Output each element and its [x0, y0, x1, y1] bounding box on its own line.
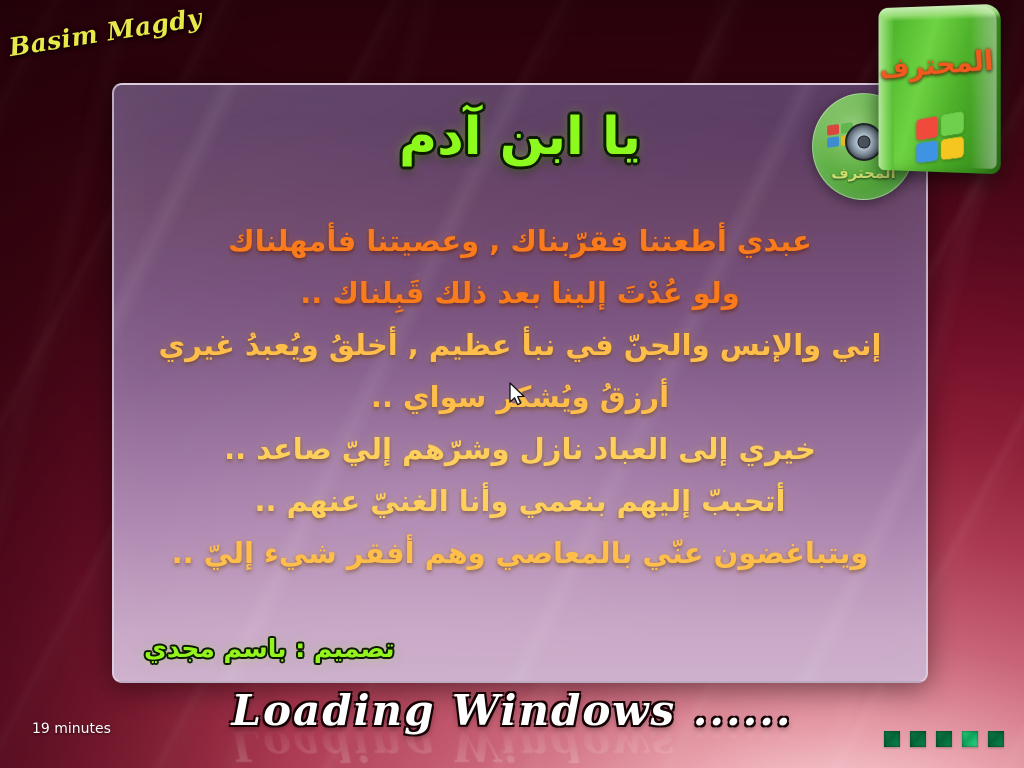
- loading-status-reflection: Loading Windows ......: [0, 721, 1024, 768]
- flag-pane-yellow: [940, 136, 963, 160]
- progress-block: [910, 731, 926, 747]
- designer-signature: تصميم : باسم مجدي: [144, 634, 395, 663]
- flag-pane-red: [916, 116, 937, 140]
- content-panel: يا ابن آدم عبدي أطعتنا فقرّبناك , وعصيتن…: [112, 83, 928, 683]
- poem-line: أتحببّ إليهم بنعمي وأنا الغنيّ عنهم ..: [140, 475, 900, 527]
- poem-line: إني والإنس والجنّ في نبأ عظيم , أخلقُ وي…: [140, 319, 900, 371]
- software-box-gloss: [970, 6, 997, 169]
- flag-pane-blue: [916, 140, 937, 163]
- loading-status-area: Loading Windows ...... Loading Windows .…: [0, 686, 1024, 768]
- progress-block: [988, 731, 1004, 747]
- flag-pane-green: [940, 111, 963, 136]
- poem-line: خيري إلى العباد نازل وشرّهم إليّ صاعد ..: [140, 423, 900, 475]
- software-box-art: المحترف: [866, 2, 1014, 176]
- poem-line: ولو عُدْتَ إلينا بعد ذلك قَبِلناك ..: [140, 267, 900, 319]
- poem-line: أرزقُ ويُشكر سواي ..: [140, 371, 900, 423]
- progress-block: [936, 731, 952, 747]
- flag-pane-blue: [827, 136, 839, 148]
- poem-text-block: عبدي أطعتنا فقرّبناك , وعصيتنا فأمهلناك …: [140, 215, 900, 579]
- software-box-body: المحترف: [879, 4, 1001, 175]
- progress-block: [884, 731, 900, 747]
- windows-logo-icon: [916, 111, 964, 163]
- poem-line: عبدي أطعتنا فقرّبناك , وعصيتنا فأمهلناك: [140, 215, 900, 267]
- software-box-spine: [879, 8, 894, 171]
- progress-indicator: [884, 731, 1004, 747]
- flag-pane-red: [827, 124, 839, 136]
- page-title: يا ابن آدم: [114, 107, 926, 167]
- progress-block-active: [962, 731, 978, 747]
- time-remaining-label: 19 minutes: [32, 721, 111, 737]
- poem-line: ويتباغضون عنّي بالمعاصي وهم أفقر شيء إلي…: [140, 527, 900, 579]
